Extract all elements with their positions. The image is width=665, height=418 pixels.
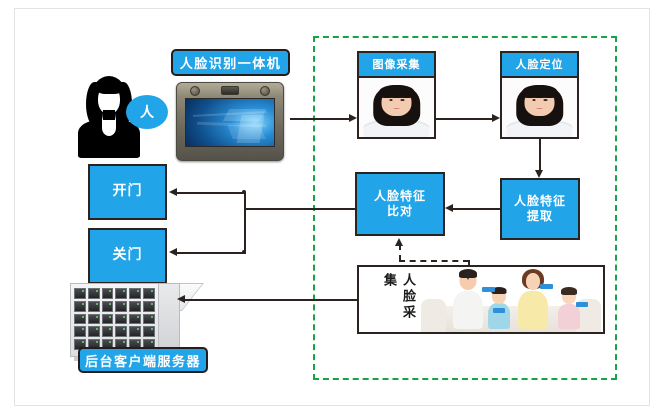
node-feature-extract[interactable]: 人脸特征 提取	[500, 178, 580, 240]
face-locate-photo	[502, 78, 577, 137]
family-member-girl	[558, 289, 580, 329]
family-member-mother	[518, 271, 548, 329]
image-capture-photo	[359, 78, 434, 137]
arrow-head	[349, 114, 357, 122]
node-face-collection-label: 人脸采集	[379, 273, 417, 332]
node-feature-compare[interactable]: 人脸特征 比对	[355, 172, 445, 236]
arrow-head	[395, 238, 403, 246]
arrow-head	[464, 272, 472, 280]
flow-face-locate-to-feature-extract	[539, 139, 541, 170]
flow-collection-to-compare-dashed-up	[399, 244, 401, 261]
person-fringe	[95, 80, 123, 94]
flow-feature-extract-to-compare	[453, 208, 500, 210]
node-face-locate-label: 人脸定位	[502, 53, 577, 78]
flow-bus-to-open-door	[177, 192, 246, 194]
server-front-panel	[70, 283, 159, 357]
arrow-head	[445, 204, 453, 212]
diagram-canvas: 人脸识别一体机 人 开门 关门 图像采集	[0, 0, 665, 418]
flow-compare-to-door-bus	[244, 208, 355, 210]
arrow-head	[177, 295, 185, 303]
arrow-head	[169, 188, 177, 196]
server-title-label: 后台客户端服务器	[78, 347, 208, 373]
terminal-camera-right-icon	[260, 86, 270, 96]
arrow-head	[169, 248, 177, 256]
backend-server-rack[interactable]	[70, 283, 180, 357]
arrow-head	[535, 170, 543, 178]
family-member-father	[453, 271, 483, 329]
face-detect-tag	[482, 287, 495, 292]
flow-collection-to-server	[185, 299, 357, 301]
person-chest	[102, 120, 116, 136]
terminal-title-label: 人脸识别一体机	[171, 49, 290, 76]
arrow-head	[492, 114, 500, 122]
face-recognition-terminal[interactable]	[176, 82, 284, 161]
face-detect-tag	[576, 302, 588, 307]
terminal-sensor-icon	[221, 86, 239, 95]
node-open-door[interactable]: 开门	[88, 164, 167, 220]
node-face-locate[interactable]: 人脸定位	[500, 51, 579, 139]
node-close-door[interactable]: 关门	[88, 228, 167, 284]
person-bubble-label: 人	[126, 95, 168, 129]
face-detect-tag	[540, 284, 553, 289]
face-detect-tag	[493, 308, 505, 313]
node-face-collection[interactable]: 人脸采集	[357, 265, 605, 334]
node-image-capture-label: 图像采集	[359, 53, 434, 78]
flow-bus-to-close-door	[177, 252, 246, 254]
node-image-capture[interactable]: 图像采集	[357, 51, 436, 139]
portrait-illustration	[502, 78, 577, 137]
terminal-screen	[185, 98, 275, 147]
family-photo	[421, 269, 601, 332]
bus-junction	[242, 190, 246, 194]
door-bus-vertical	[244, 192, 246, 254]
flow-image-capture-to-face-locate	[436, 118, 492, 120]
server-drive-bays	[74, 288, 155, 350]
bus-junction	[242, 250, 246, 254]
terminal-camera-left-icon	[190, 86, 200, 96]
flow-terminal-to-image-capture	[290, 118, 349, 120]
flow-collection-to-compare-dashed-mid	[399, 260, 469, 262]
portrait-illustration	[359, 78, 434, 137]
